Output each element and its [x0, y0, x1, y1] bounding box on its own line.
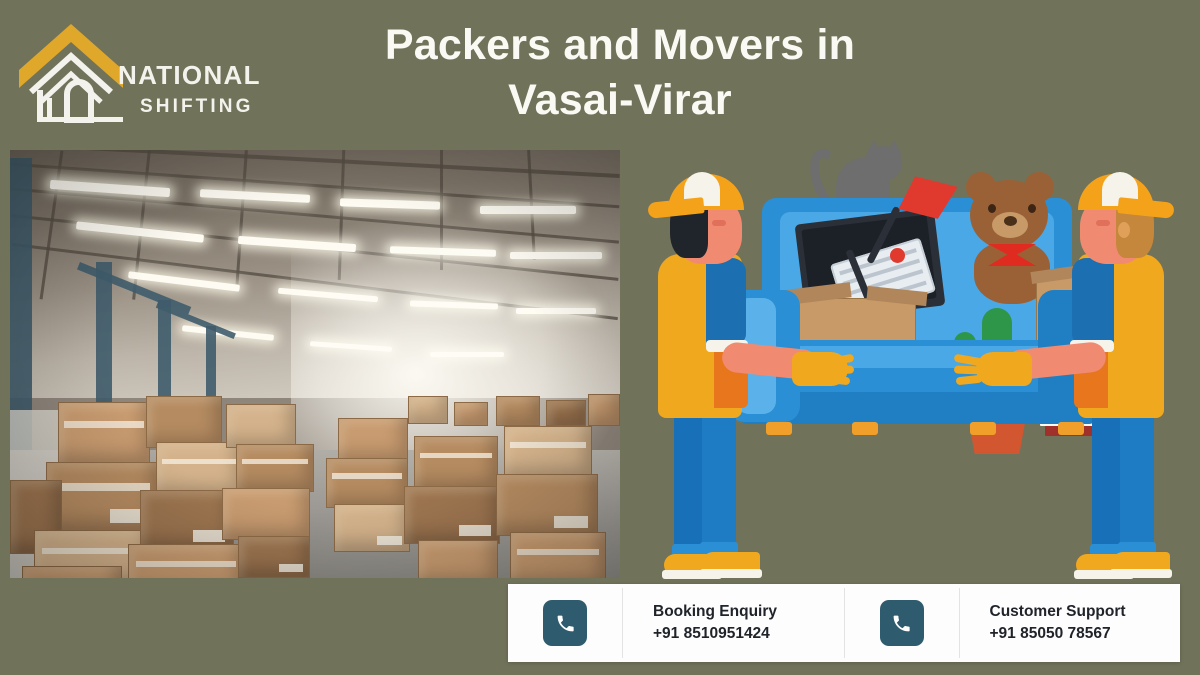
- logo-sub-text: SHIFTING: [140, 97, 298, 116]
- sofa-leg: [1058, 422, 1084, 435]
- teddy-bear-icon: [1028, 204, 1036, 213]
- teddy-bear-icon: [1004, 216, 1017, 226]
- phone-glyph: [891, 613, 912, 634]
- mover-left-sleeve: [706, 258, 746, 344]
- photo-vignette: [10, 150, 620, 578]
- phone-glyph: [555, 613, 576, 634]
- page-title-line1: Packers and Movers in: [300, 18, 940, 73]
- sofa-leg: [852, 422, 878, 435]
- logo-wordmark: NATIONAL SHIFTING: [118, 62, 298, 116]
- logo-main-text: NATIONAL: [118, 62, 298, 88]
- shoe-sole: [1110, 569, 1172, 578]
- mover-right-glove: [976, 352, 1032, 386]
- glove-finger: [826, 366, 854, 375]
- booking-enquiry-info: Booking Enquiry +91 8510951424: [623, 584, 844, 662]
- cat-silhouette-icon: [864, 146, 902, 180]
- phone-icon[interactable]: [543, 600, 587, 646]
- shoe-sole: [700, 569, 762, 578]
- sofa-leg: [970, 422, 996, 435]
- warehouse-photo: [10, 150, 620, 578]
- mover-right-sleeve: [1072, 258, 1114, 344]
- mover-left-leg: [702, 408, 736, 558]
- customer-support-info: Customer Support +91 85050 78567: [960, 584, 1181, 662]
- brand-logo[interactable]: NATIONAL SHIFTING: [10, 14, 300, 126]
- booking-enquiry-number[interactable]: +91 8510951424: [653, 623, 844, 645]
- glove-finger: [954, 366, 982, 375]
- page-title-line2: Vasai-Virar: [300, 73, 940, 128]
- house-roof-icon: [15, 16, 127, 124]
- page-title: Packers and Movers in Vasai-Virar: [300, 18, 940, 128]
- mover-left-eye: [712, 220, 726, 226]
- mover-right-eye: [1096, 220, 1110, 226]
- mover-left-ear: [694, 222, 706, 238]
- mover-right-leg: [1120, 408, 1154, 558]
- booking-enquiry-call-button[interactable]: [508, 584, 622, 662]
- customer-support-label: Customer Support: [990, 601, 1181, 623]
- contact-bar: Booking Enquiry +91 8510951424 Customer …: [508, 584, 1180, 662]
- customer-support-call-button[interactable]: [845, 584, 959, 662]
- movers-illustration: [640, 140, 1200, 580]
- teddy-bear-icon: [988, 204, 996, 213]
- sofa-leg: [766, 422, 792, 435]
- desk-lamp-joint: [890, 248, 905, 263]
- customer-support-number[interactable]: +91 85050 78567: [990, 623, 1181, 645]
- booking-enquiry-label: Booking Enquiry: [653, 601, 844, 623]
- mover-right-ear: [1118, 222, 1130, 238]
- phone-icon[interactable]: [880, 600, 924, 646]
